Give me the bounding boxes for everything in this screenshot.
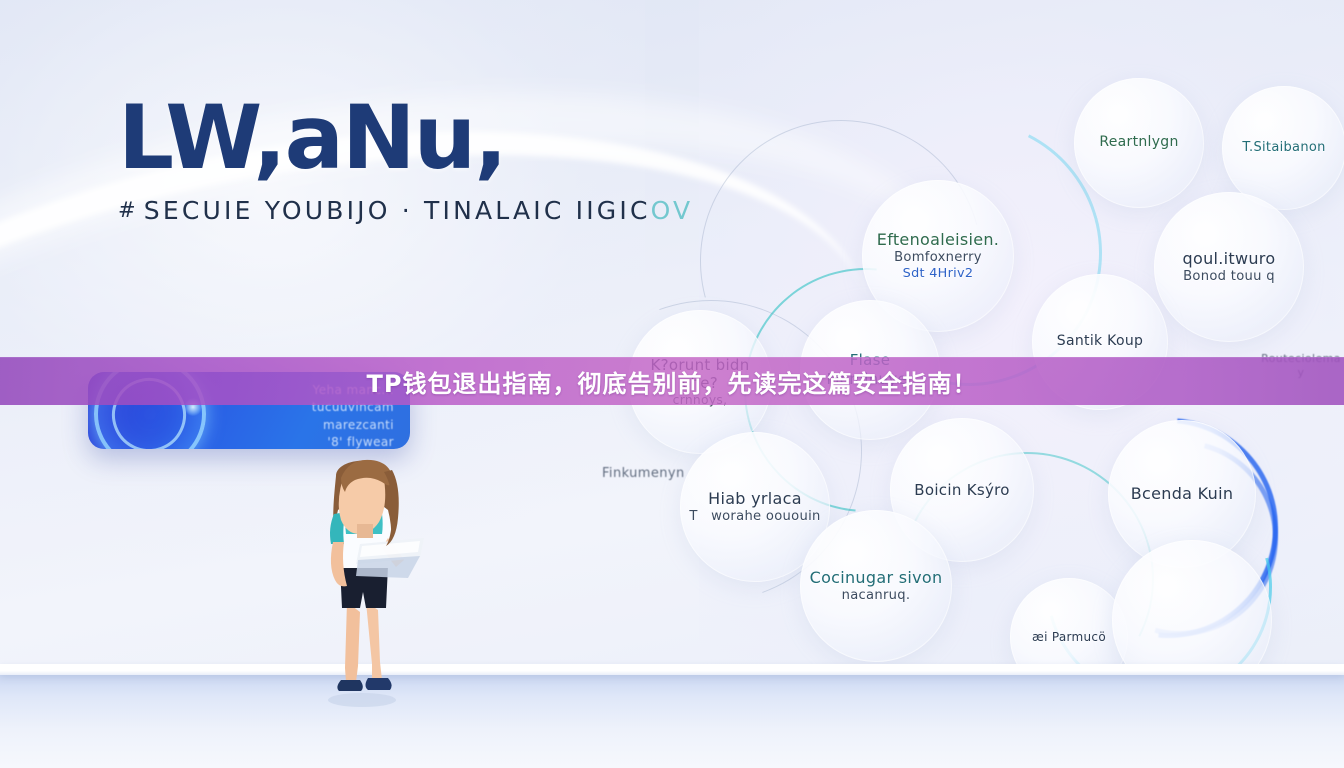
bubble-label-main: Santik Koup [1057,333,1143,349]
hash-icon: # [118,198,139,222]
bubble-label: T.Sitaibanon [1234,140,1333,156]
page-title: LW,aNu, [118,96,693,180]
blue-card-line3: marezcanti [209,417,394,434]
bubble-label-main: Hiab yrlaca [708,489,802,508]
hero-headline-block: LW,aNu, #SECUIE YOUBIJO · TINALAIC IIGIC… [118,96,693,225]
hero-subtitle-accent: OV [651,196,694,225]
bubble-label: æi Parmucö [1024,630,1114,645]
bubble-label-accent: Sdt 4Hriv2 [877,266,999,282]
title-banner: TP钱包退出指南，彻底告别前，先读完这篇安全指南！ [0,357,1344,405]
bubble-label-sub: Bonod touu q [1183,269,1276,285]
bubble-bonod: qoul.itwuroBonod touu q [1154,192,1304,342]
bubble-label-sub: Bomfoxnerry [877,250,999,266]
bubble-label: Bcenda Kuin [1123,484,1242,504]
bubble-label-main: Reartnlygn [1099,134,1178,150]
bubble-label-sub: T worahe oououin [689,509,820,525]
bubble-label: Reartnlygn [1091,134,1186,152]
bubble-label: Boicin Ksýro [906,481,1017,500]
banner-title-text: TP钱包退出指南，彻底告别前，先读完这篇安全指南！ [367,364,978,399]
bubble-label-main: Bcenda Kuin [1131,484,1234,503]
floor-plane [0,672,1344,768]
hero-subtitle-main: SECUIE YOUBIJO · TINALAIC IIGIC [144,196,651,225]
bubble-label-main: Eftenoaleisien. [877,230,999,249]
standing-woman-illustration [300,452,430,717]
bubble-label-main: æi Parmucö [1032,630,1106,644]
bubble-label-main: Cocinugar sivon [810,568,943,587]
floor-edge-line [0,664,1344,675]
bubble-label-sub: nacanruq. [810,588,943,604]
bubble-cocinugar: Cocinugar sivonnacanruq. [800,510,952,662]
bubble-label: Cocinugar sivonnacanruq. [802,568,951,604]
bubble-label: Hiab yrlacaT worahe oououin [681,489,828,525]
hero-subtitle: #SECUIE YOUBIJO · TINALAIC IIGICOV [118,196,693,225]
banner-image: ReartnlygnT.SitaibanonEftenoaleisien.Bom… [0,0,1344,768]
blue-card-line4: '8' flywear [209,434,394,449]
bubble-label-main: Boicin Ksýro [914,481,1009,499]
bubble-label-main: qoul.itwuro [1183,249,1276,268]
bubble-reartnlygn: Reartnlygn [1074,78,1204,208]
bubble-label-main: T.Sitaibanon [1242,140,1325,155]
bubble-label: qoul.itwuroBonod touu q [1175,249,1284,285]
bubble-label: Eftenoaleisien.BomfoxnerrySdt 4Hriv2 [869,230,1007,282]
bubble-label: Santik Koup [1049,333,1151,351]
ghost-pmuramagn: Finkumenyn [602,466,685,483]
